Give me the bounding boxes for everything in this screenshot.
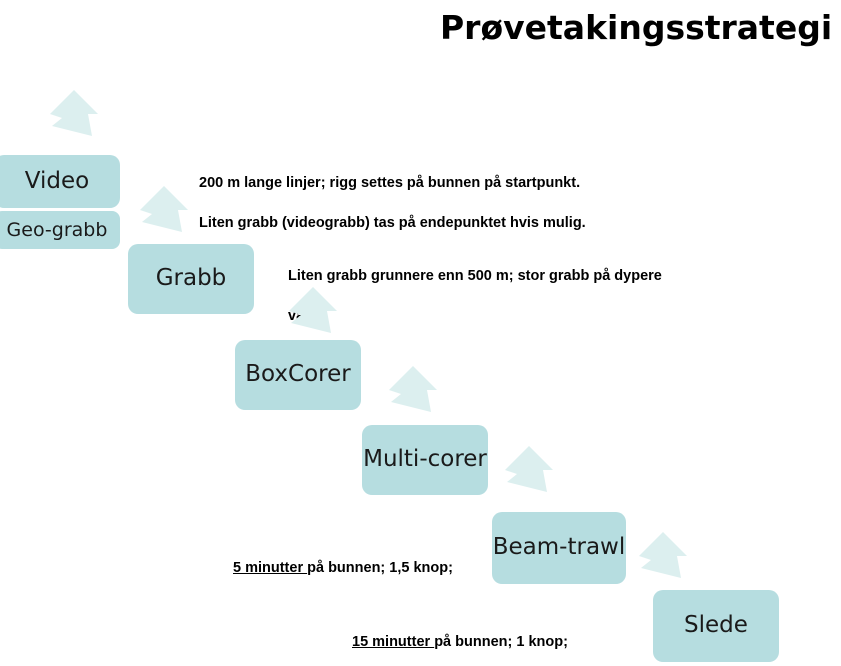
- slide-canvas: Prøvetakingsstrategi Video Geo-grabb 200…: [0, 0, 841, 666]
- node-geo-grabb-label: Geo-grabb: [7, 220, 108, 241]
- arrow-to-video-icon: [44, 84, 100, 142]
- note-grabb-line1: Liten grabb grunnere enn 500 m; stor gra…: [288, 266, 718, 286]
- node-multi-corer-label: Multi-corer: [363, 447, 487, 472]
- note-grabb-line2: vann.: [288, 306, 718, 326]
- note-video-line1: 200 m lange linjer; rigg settes på bunne…: [199, 173, 669, 193]
- node-beam-trawl-label: Beam-trawl: [493, 535, 626, 560]
- arrow-video-grabb-icon: [134, 180, 190, 238]
- note-beam-trawl-rest: på bunnen; 1,5 knop;: [307, 560, 453, 576]
- node-grabb[interactable]: Grabb: [128, 244, 254, 314]
- note-slede-underlined: 15 minutter: [352, 634, 434, 650]
- node-video[interactable]: Video: [0, 155, 120, 208]
- note-grabb: Liten grabb grunnere enn 500 m; stor gra…: [288, 246, 718, 346]
- arrow-beamtrawl-slede-icon: [633, 526, 689, 584]
- note-slede: 15 minutter på bunnen; 1 knop; 2 trekk: …: [352, 612, 652, 666]
- node-slede[interactable]: Slede: [653, 590, 779, 662]
- note-slede-rest: på bunnen; 1 knop;: [434, 634, 568, 650]
- node-beam-trawl[interactable]: Beam-trawl: [492, 512, 626, 584]
- node-boxcorer[interactable]: BoxCorer: [235, 340, 361, 410]
- node-grabb-label: Grabb: [156, 266, 227, 291]
- note-video: 200 m lange linjer; rigg settes på bunne…: [199, 153, 669, 253]
- arrow-grabb-boxcorer-icon: [283, 281, 339, 339]
- node-slede-label: Slede: [684, 613, 748, 638]
- page-title: Prøvetakingsstrategi: [440, 8, 830, 47]
- arrow-boxcorer-multicorer-icon: [383, 360, 439, 418]
- node-boxcorer-label: BoxCorer: [245, 362, 350, 387]
- node-video-label: Video: [25, 169, 89, 194]
- note-beam-trawl: 5 minutter på bunnen; 1,5 knop;: [233, 538, 503, 578]
- note-slede-line1: 15 minutter på bunnen; 1 knop;: [352, 632, 652, 652]
- note-video-line2: Liten grabb (videograbb) tas på endepunk…: [199, 213, 669, 233]
- note-beam-trawl-underlined: 5 minutter: [233, 560, 307, 576]
- node-geo-grabb[interactable]: Geo-grabb: [0, 211, 120, 249]
- node-multi-corer[interactable]: Multi-corer: [362, 425, 488, 495]
- arrow-multicorer-beamtrawl-icon: [499, 440, 555, 498]
